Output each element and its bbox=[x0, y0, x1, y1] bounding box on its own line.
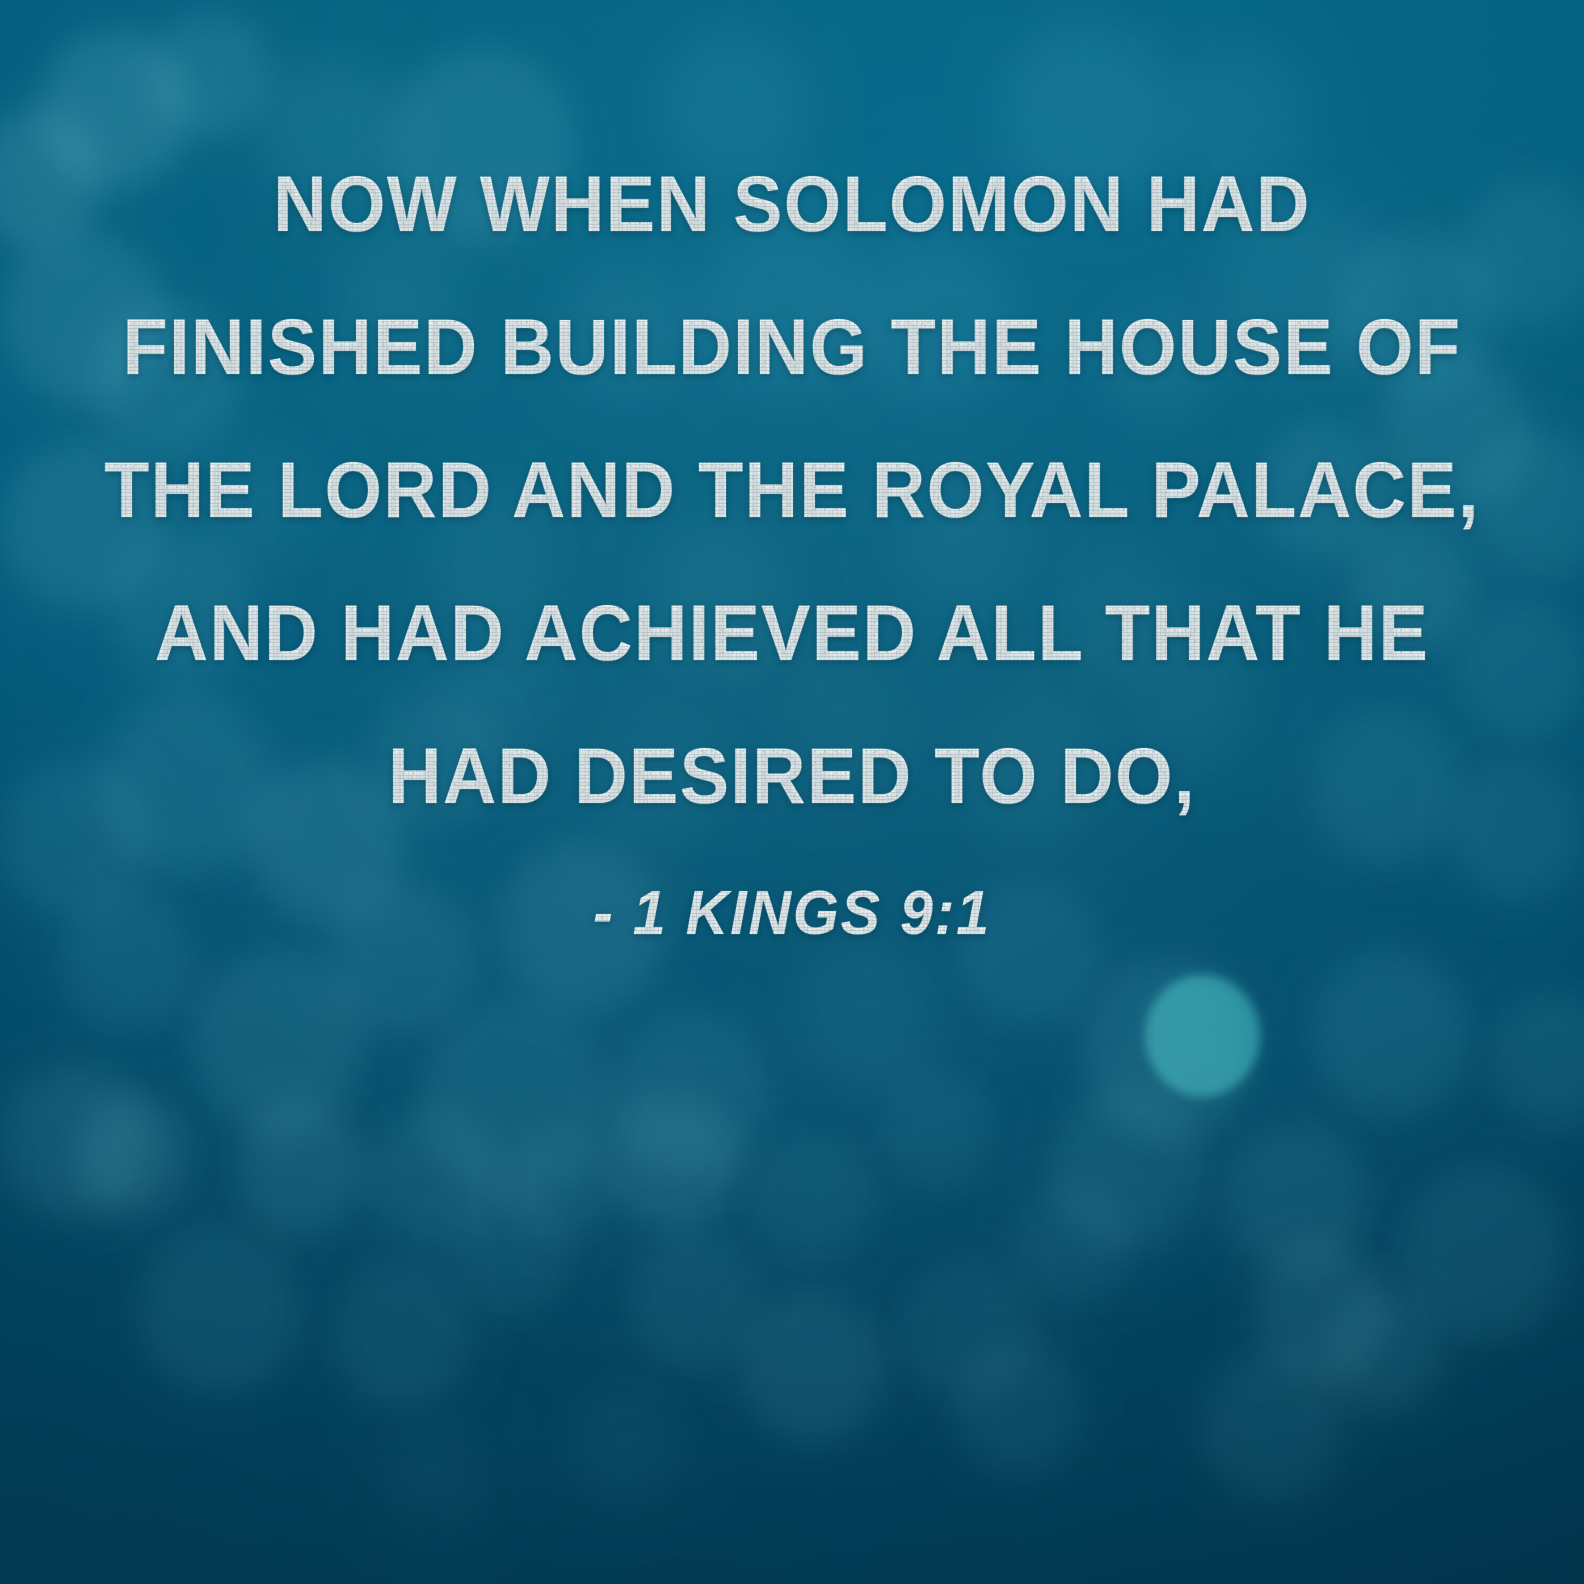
verse-line-3: THE LORD AND THE ROYAL PALACE, bbox=[51, 418, 1532, 561]
verse-reference-attribution: - 1 KINGS 9:1 bbox=[40, 877, 1545, 951]
verse-line-5: HAD DESIRED TO DO, bbox=[51, 704, 1532, 847]
verse-image-canvas: NOW WHEN SOLOMON HAD FINISHED BUILDING T… bbox=[0, 0, 1584, 1584]
verse-line-4: AND HAD ACHIEVED ALL THAT HE bbox=[51, 561, 1532, 704]
verse-line-2: FINISHED BUILDING THE HOUSE OF bbox=[51, 275, 1532, 418]
verse-text-block: NOW WHEN SOLOMON HAD FINISHED BUILDING T… bbox=[0, 132, 1584, 951]
verse-line-1: NOW WHEN SOLOMON HAD bbox=[51, 132, 1532, 275]
